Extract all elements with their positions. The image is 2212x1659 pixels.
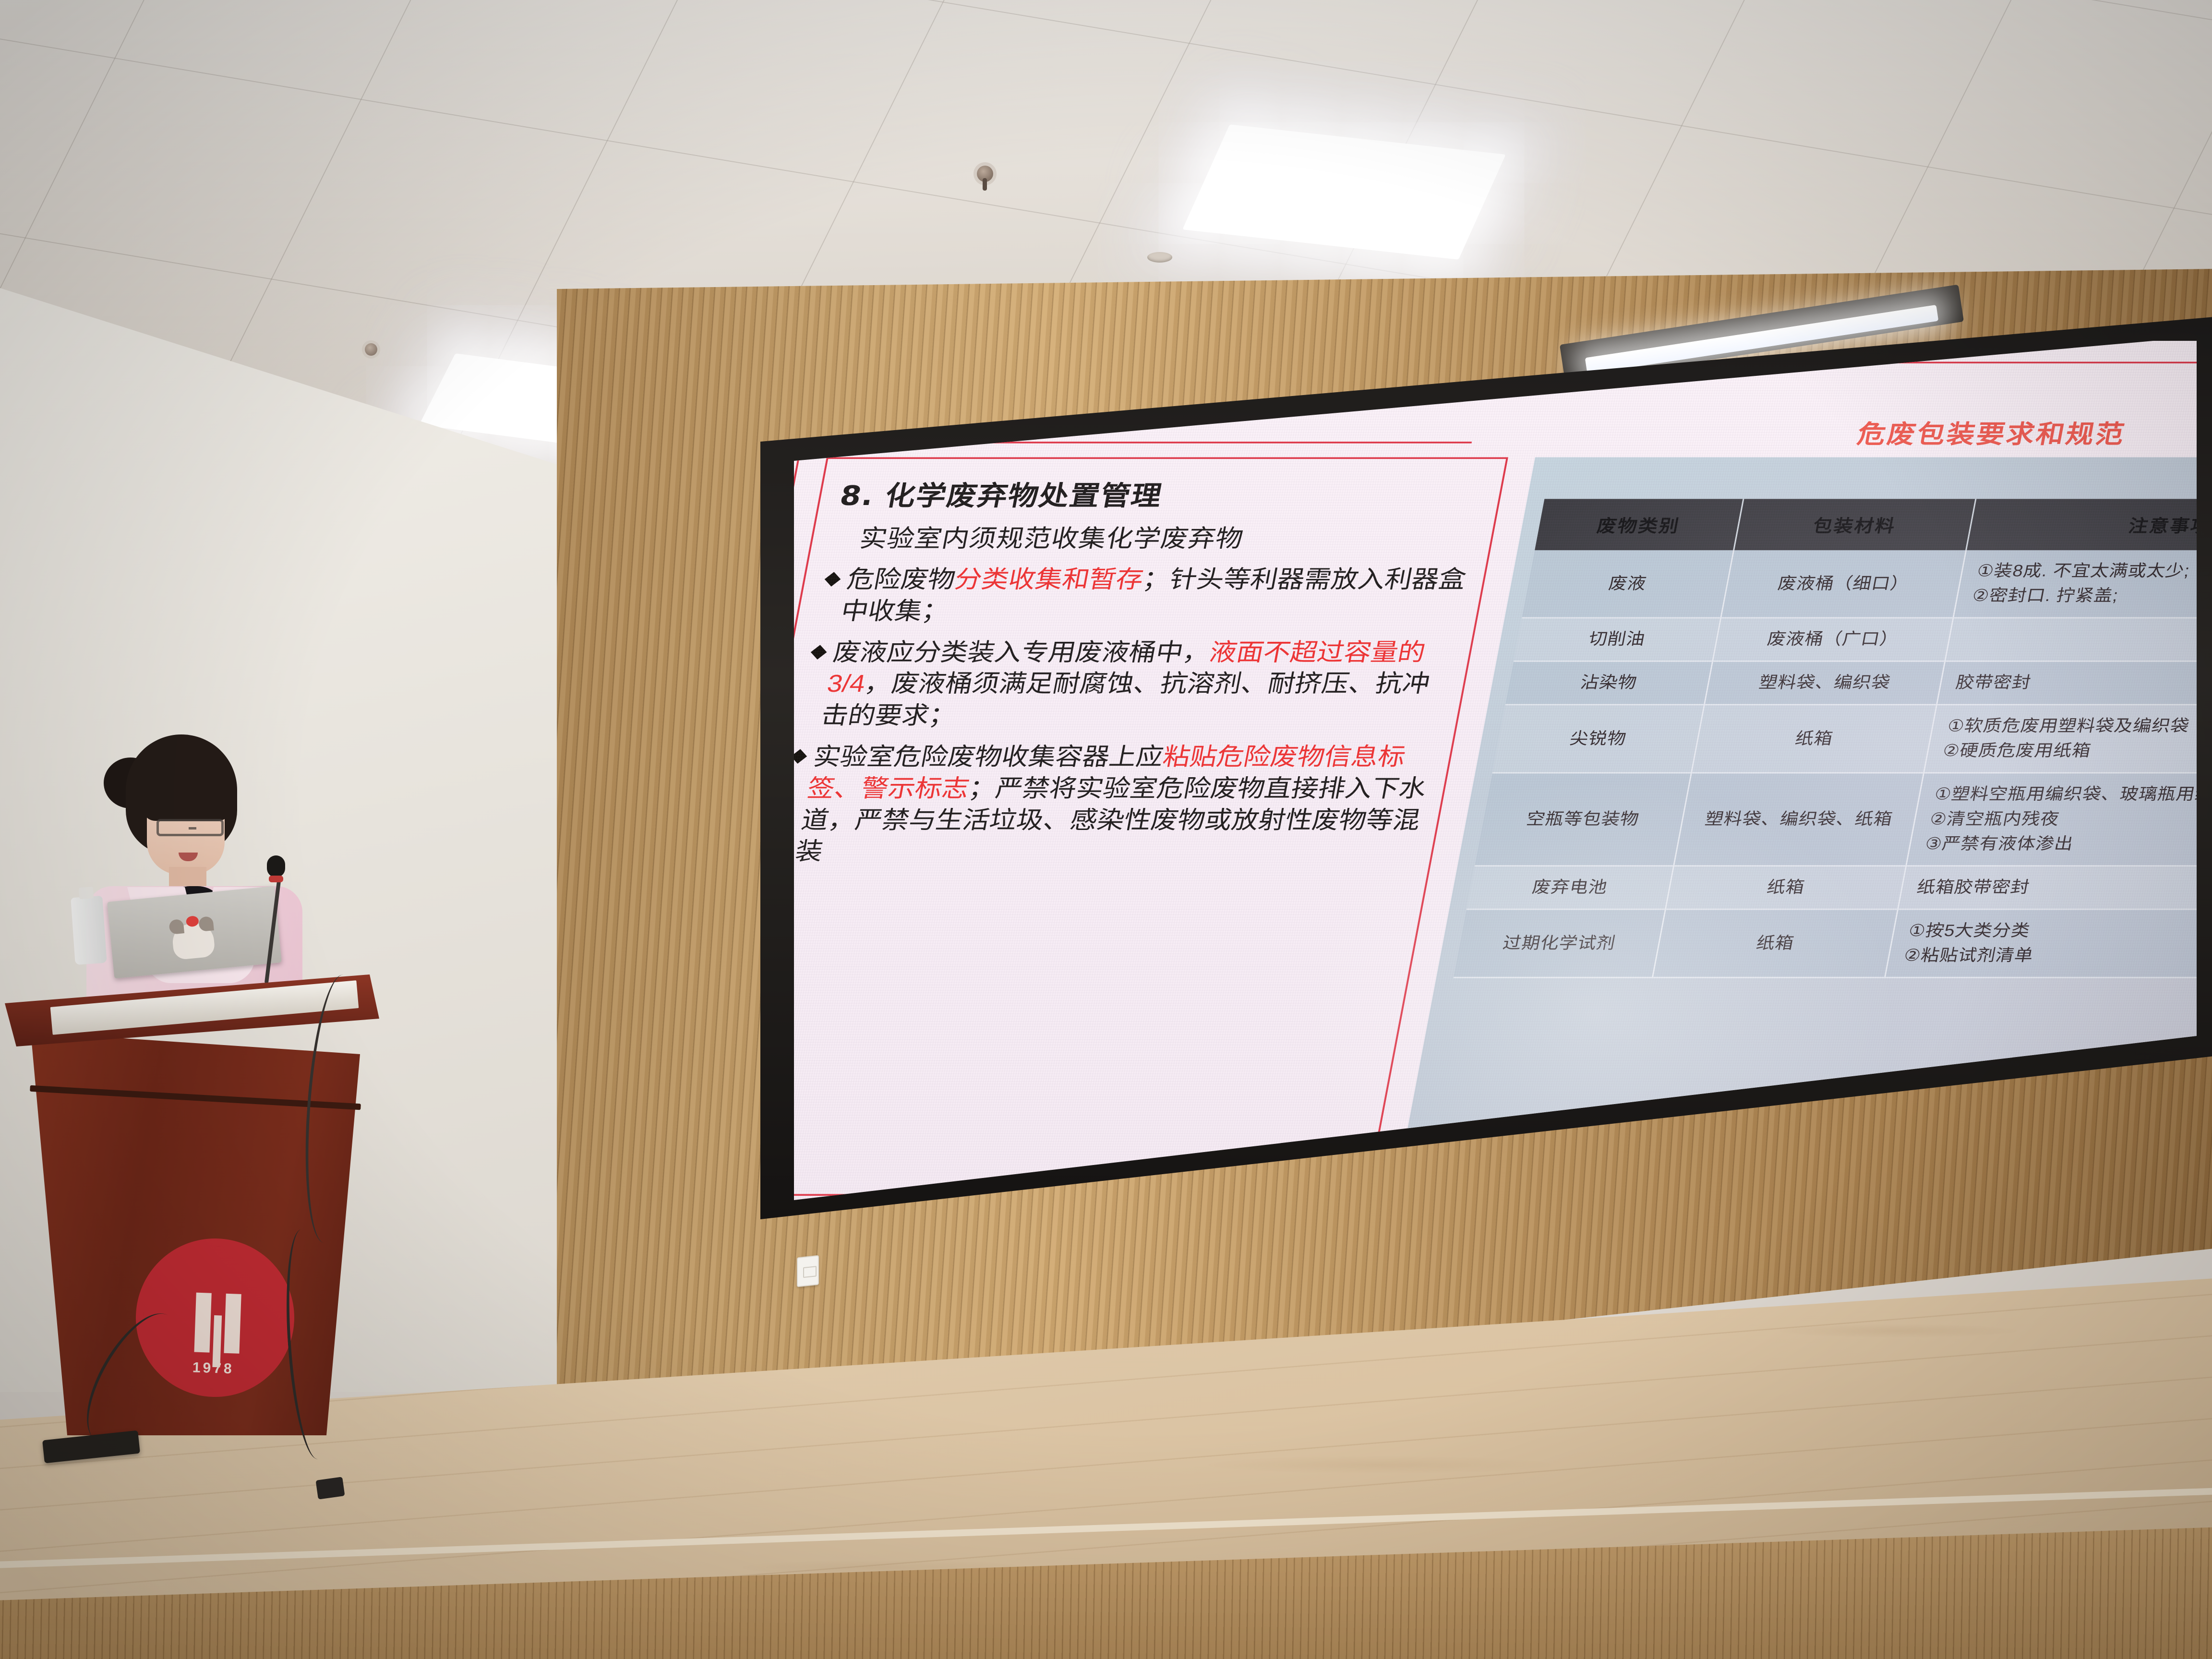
note-line: ②清空瓶内残夜 xyxy=(1928,807,2212,832)
cell-category: 沾染物 xyxy=(1505,661,1713,705)
cell-material: 废液桶（细口） xyxy=(1721,550,1966,618)
cell-category: 空瓶等包装物 xyxy=(1475,773,1692,866)
cell-material: 纸箱 xyxy=(1653,909,1898,977)
cable-plug xyxy=(315,1477,345,1499)
cell-material: 塑料袋、编织袋、纸箱 xyxy=(1674,773,1924,866)
table-row: 过期化学试剂纸箱①按5大类分类②粘贴试剂清单 xyxy=(1454,909,2212,977)
note-line: ①软质危废用塑料袋及编织袋 xyxy=(1945,714,2212,739)
table-row: 切削油废液桶（广口） xyxy=(1514,618,2212,661)
bullet-text: 实验室危险废物收集容器上应粘贴危险废物信息标签、警示标志；严禁将实验室危险废物直… xyxy=(793,741,1438,867)
microphone-head-icon[interactable] xyxy=(267,855,285,878)
note-line: 纸箱胶带密封 xyxy=(1915,875,2212,900)
note-line: 胶带密封 xyxy=(1954,671,2212,696)
body-text: ，废液桶须满足耐腐蚀、抗溶剂、耐挤压、抗冲击的要求； xyxy=(819,670,1432,729)
smoke-detector-icon xyxy=(1147,252,1172,263)
table-header-row: 废物类别 包装材料 注意事项 xyxy=(1535,499,2212,550)
body-text: 废液应分类装入专用废液桶中， xyxy=(831,638,1213,666)
cell-category: 过期化学试剂 xyxy=(1454,909,1666,977)
wall-power-outlet[interactable] xyxy=(797,1255,819,1287)
cell-notes: ①塑料空瓶用编织袋、玻璃瓶用纸箱②清空瓶内残夜③严禁有液体渗出 xyxy=(1906,773,2212,866)
sprinkler-head-icon xyxy=(977,166,993,182)
table-row: 废液废液桶（细口）①装8成. 不宜太满或太少;②密封口. 拧紧盖; xyxy=(1522,550,2212,618)
water-bottle[interactable] xyxy=(71,896,107,965)
slide-bullet-1: ◆危险废物分类收集和暂存；针头等利器需放入利器盒中收集； xyxy=(816,564,1472,627)
highlighted-text: 分类收集和暂存 xyxy=(952,565,1146,593)
table-header-notes: 注意事项 xyxy=(1966,499,2212,550)
cell-material: 纸箱 xyxy=(1692,705,1937,773)
slide-subtitle: 实验室内须规范收集化学废弃物 xyxy=(857,519,1480,554)
cell-notes: 纸箱胶带密封 xyxy=(1898,866,2212,910)
table-row: 空瓶等包装物塑料袋、编织袋、纸箱①塑料空瓶用编织袋、玻璃瓶用纸箱②清空瓶内残夜③… xyxy=(1475,773,2212,866)
table-header-material: 包装材料 xyxy=(1734,499,1976,550)
sprinkler-head-icon xyxy=(365,343,377,356)
table-title: 危废包装要求和规范 xyxy=(1638,414,2212,450)
microphone-indicator xyxy=(269,876,283,882)
slide-bullet-list: ◆危险废物分类收集和暂存；针头等利器需放入利器盒中收集；◆废液应分类装入专用废液… xyxy=(770,564,1472,867)
bullet-diamond-icon: ◆ xyxy=(816,564,844,627)
bullet-text: 危险废物分类收集和暂存；针头等利器需放入利器盒中收集； xyxy=(839,564,1472,627)
cell-category: 切削油 xyxy=(1514,618,1721,661)
hair-fringe xyxy=(142,775,231,821)
note-line: ①装8成. 不宜太满或太少; xyxy=(1975,559,2212,584)
cell-category: 废液 xyxy=(1522,550,1733,618)
cat-sticker-icon xyxy=(171,922,216,960)
cell-notes: 胶带密封 xyxy=(1936,661,2212,705)
note-line: ①塑料空瓶用编织袋、玻璃瓶用纸箱 xyxy=(1932,782,2212,807)
cell-category: 废弃电池 xyxy=(1467,866,1674,910)
table-row: 尖锐物纸箱①软质危废用塑料袋及编织袋②硬质危废用纸箱 xyxy=(1492,705,2212,773)
note-line: ②粘贴试剂清单 xyxy=(1902,943,2212,968)
note-line: ①按5大类分类 xyxy=(1906,919,2212,944)
laptop[interactable] xyxy=(107,886,282,979)
slide-bullet-3: ◆实验室危险废物收集容器上应粘贴危险废物信息标签、警示标志；严禁将实验室危险废物… xyxy=(770,741,1438,867)
note-line: ③严禁有液体渗出 xyxy=(1923,832,2212,857)
body-text: 实验室危险废物收集容器上应 xyxy=(811,743,1166,770)
table-header-category: 废物类别 xyxy=(1535,499,1743,550)
bullet-text: 废液应分类装入专用废液桶中，液面不超过容量的3/4，废液桶须满足耐腐蚀、抗溶剂、… xyxy=(818,637,1458,732)
cell-material: 纸箱 xyxy=(1666,866,1906,910)
cell-notes: ①装8成. 不宜太满或太少;②密封口. 拧紧盖; xyxy=(1953,550,2212,618)
lecture-hall-scene: 常州大學 CHANGZHOU UNIVERSITY 8. 化学废弃物处置管理 实… xyxy=(0,0,2212,1659)
table-row: 沾染物塑料袋、编织袋胶带密封 xyxy=(1505,661,2212,705)
table-row: 废弃电池纸箱纸箱胶带密封 xyxy=(1467,866,2212,910)
body-text: 危险废物 xyxy=(845,565,958,593)
cell-material: 废液桶（广口） xyxy=(1713,618,1953,661)
slide-title: 8. 化学废弃物处置管理 xyxy=(837,474,1489,513)
cell-notes: ①按5大类分类②粘贴试剂清单 xyxy=(1885,909,2212,977)
eyeglasses-icon xyxy=(156,819,224,836)
note-line: ②硬质危废用纸箱 xyxy=(1941,739,2212,764)
cell-material: 塑料袋、编织袋 xyxy=(1705,661,1945,705)
slide-bullet-2: ◆废液应分类装入专用废液桶中，液面不超过容量的3/4，废液桶须满足耐腐蚀、抗溶剂… xyxy=(795,637,1458,732)
cell-category: 尖锐物 xyxy=(1492,705,1705,773)
note-line: ②密封口. 拧紧盖; xyxy=(1970,584,2212,609)
cell-notes xyxy=(1945,618,2212,661)
cell-notes: ①软质危废用塑料袋及编织袋②硬质危废用纸箱 xyxy=(1923,705,2212,773)
highlighted-text: 液面不超过容量 xyxy=(1207,638,1401,666)
